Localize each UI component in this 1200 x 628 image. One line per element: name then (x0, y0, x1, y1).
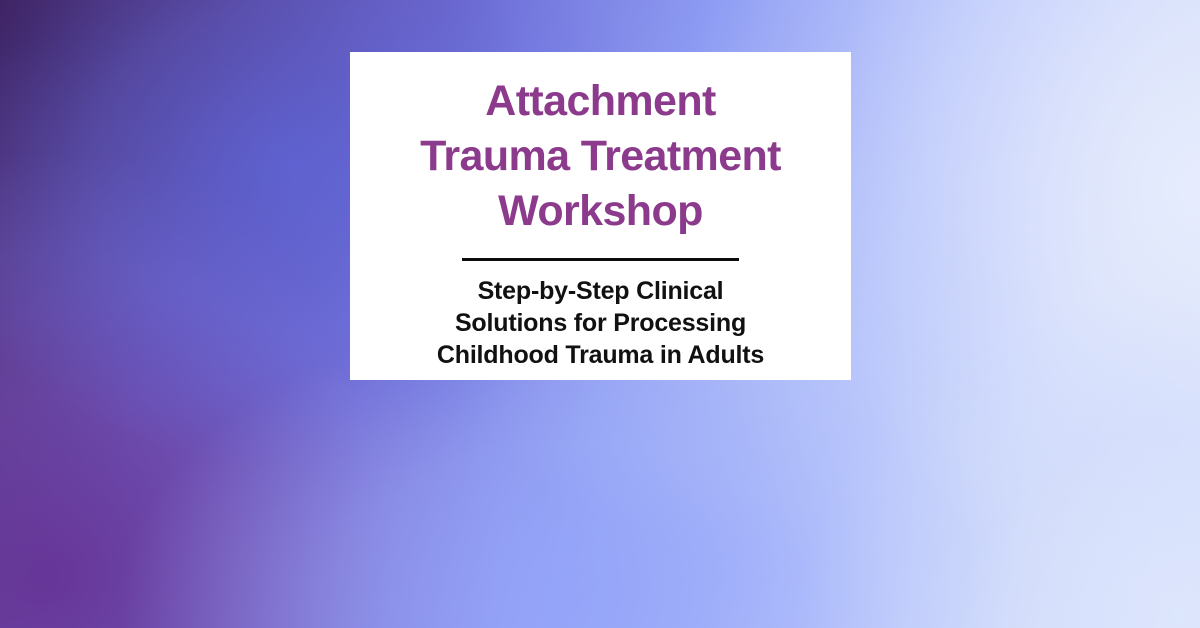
page-title-line-2: Trauma Treatment (350, 129, 851, 184)
title-divider (462, 258, 739, 261)
poster-canvas: Attachment Trauma Treatment Workshop Ste… (0, 0, 1200, 628)
page-title-line-1: Attachment (350, 74, 851, 129)
page-subtitle-line-3: Childhood Trauma in Adults (350, 339, 851, 371)
page-title-line-3: Workshop (350, 184, 851, 239)
title-card: Attachment Trauma Treatment Workshop Ste… (350, 52, 851, 380)
page-title: Attachment Trauma Treatment Workshop (350, 74, 851, 239)
page-subtitle-line-1: Step-by-Step Clinical (350, 275, 851, 307)
page-subtitle: Step-by-Step Clinical Solutions for Proc… (350, 275, 851, 371)
page-subtitle-line-2: Solutions for Processing (350, 307, 851, 339)
